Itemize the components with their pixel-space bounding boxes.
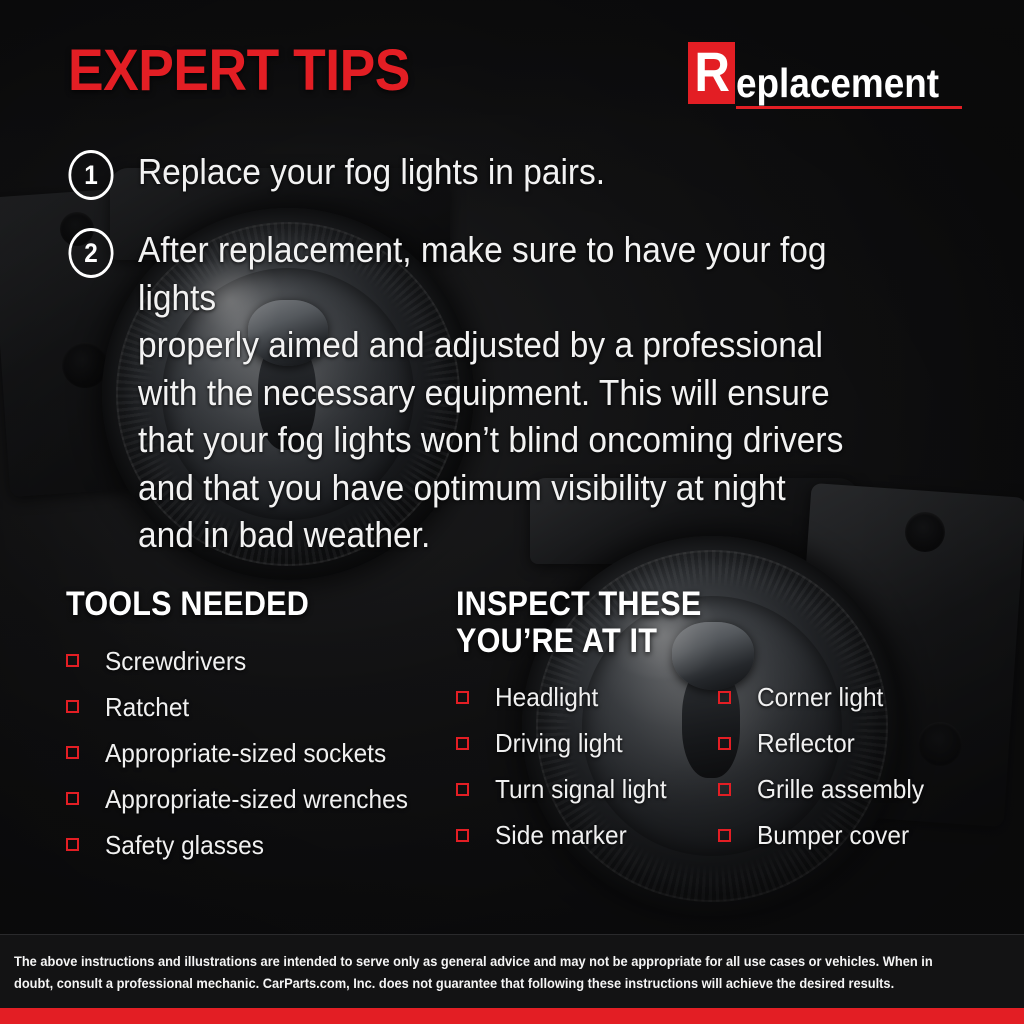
logo-word-text: eplacement: [736, 63, 939, 104]
bottom-accent-bar: [0, 1008, 1024, 1024]
poster-content: EXPERT TIPS R eplacement 1 Replace your …: [0, 0, 1024, 1024]
list-item-label: Safety glasses: [105, 832, 264, 858]
list-item[interactable]: Grille assembly: [718, 771, 980, 807]
tools-needed-section: TOOLS NEEDED Screwdrivers Ratchet Approp…: [66, 586, 456, 873]
checkbox-icon[interactable]: [456, 691, 469, 704]
checkbox-icon[interactable]: [456, 783, 469, 796]
checkbox-icon[interactable]: [66, 792, 79, 805]
list-item-label: Headlight: [495, 684, 598, 710]
list-item[interactable]: Bumper cover: [718, 817, 980, 853]
list-item-label: Appropriate-sized sockets: [105, 740, 386, 766]
list-item-label: Ratchet: [105, 694, 189, 720]
logo-mark: R: [688, 42, 735, 104]
tip-number-badge: 1: [69, 150, 114, 200]
tip-item: 1 Replace your fog lights in pairs.: [66, 148, 964, 200]
tip-text: Replace your fog lights in pairs.: [138, 148, 605, 196]
inspect-these-heading: INSPECT THESE YOU’RE AT IT: [456, 586, 931, 659]
tips-list: 1 Replace your fog lights in pairs. 2 Af…: [66, 148, 964, 585]
tools-needed-list: Screwdrivers Ratchet Appropriate-sized s…: [66, 643, 456, 863]
list-item[interactable]: Appropriate-sized wrenches: [66, 781, 456, 817]
inspect-checklist-grid: Headlight Driving light Turn signal ligh…: [456, 679, 984, 863]
list-item-label: Reflector: [757, 730, 855, 756]
checkbox-icon[interactable]: [66, 746, 79, 759]
list-item[interactable]: Reflector: [718, 725, 980, 761]
list-item-label: Screwdrivers: [105, 648, 246, 674]
page-title: EXPERT TIPS: [68, 42, 410, 100]
list-item[interactable]: Driving light: [456, 725, 718, 761]
checkbox-icon[interactable]: [718, 691, 731, 704]
checkbox-icon[interactable]: [718, 783, 731, 796]
logo-wordmark: eplacement: [736, 42, 962, 109]
logo-underline: [736, 106, 962, 109]
checkbox-icon[interactable]: [66, 654, 79, 667]
checklist-columns: TOOLS NEEDED Screwdrivers Ratchet Approp…: [66, 586, 984, 873]
list-item-label: Corner light: [757, 684, 883, 710]
inspect-these-section: INSPECT THESE YOU’RE AT IT Headlight Dri…: [456, 586, 984, 873]
list-item[interactable]: Turn signal light: [456, 771, 718, 807]
checkbox-icon[interactable]: [718, 829, 731, 842]
list-item-label: Bumper cover: [757, 822, 909, 848]
tip-item: 2 After replacement, make sure to have y…: [66, 226, 964, 559]
list-item-label: Grille assembly: [757, 776, 924, 802]
list-item[interactable]: Corner light: [718, 679, 980, 715]
list-item-label: Turn signal light: [495, 776, 667, 802]
expert-tips-poster: EXPERT TIPS R eplacement 1 Replace your …: [0, 0, 1024, 1024]
list-item-label: Side marker: [495, 822, 627, 848]
checkbox-icon[interactable]: [718, 737, 731, 750]
footer-disclaimer-bar: The above instructions and illustrations…: [0, 934, 1024, 1008]
checkbox-icon[interactable]: [456, 737, 469, 750]
checkbox-icon[interactable]: [66, 838, 79, 851]
list-item-label: Driving light: [495, 730, 623, 756]
inspect-list-right: Corner light Reflector Grille assembly: [718, 679, 980, 863]
checkbox-icon[interactable]: [66, 700, 79, 713]
tip-text: After replacement, make sure to have you…: [138, 226, 906, 559]
replacement-logo: R eplacement: [688, 42, 962, 109]
tools-needed-heading: TOOLS NEEDED: [66, 586, 417, 623]
inspect-list-left: Headlight Driving light Turn signal ligh…: [456, 679, 718, 863]
disclaimer-text: The above instructions and illustrations…: [14, 951, 960, 996]
list-item-label: Appropriate-sized wrenches: [105, 786, 408, 812]
list-item[interactable]: Headlight: [456, 679, 718, 715]
checkbox-icon[interactable]: [456, 829, 469, 842]
list-item[interactable]: Appropriate-sized sockets: [66, 735, 456, 771]
list-item[interactable]: Screwdrivers: [66, 643, 456, 679]
list-item[interactable]: Safety glasses: [66, 827, 456, 863]
list-item[interactable]: Ratchet: [66, 689, 456, 725]
logo-mark-letter: R: [694, 44, 730, 100]
list-item[interactable]: Side marker: [456, 817, 718, 853]
tip-number-badge: 2: [69, 228, 114, 278]
